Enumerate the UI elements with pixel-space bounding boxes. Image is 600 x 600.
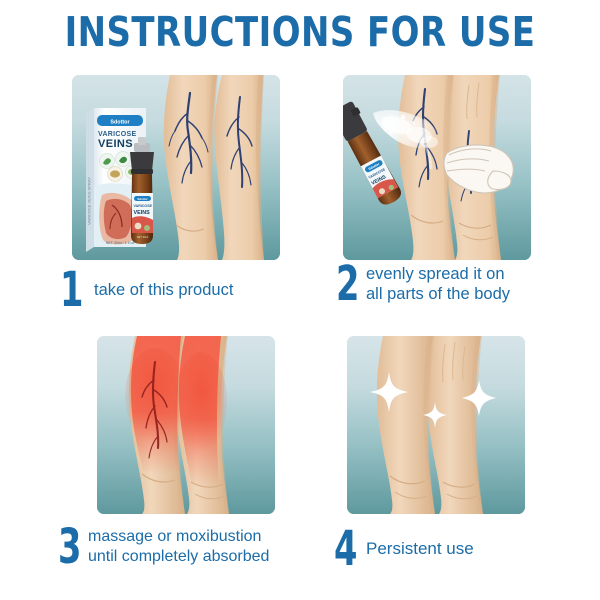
step-2-number: 2 xyxy=(336,262,358,306)
svg-text:NET 30ml: NET 30ml xyxy=(137,235,149,239)
svg-text:VARICOSE VEINS SPRAY: VARICOSE VEINS SPRAY xyxy=(87,177,92,225)
panel-heat-legs xyxy=(97,336,275,514)
svg-text:Sdottor: Sdottor xyxy=(137,197,148,201)
healthy-legs-illustration xyxy=(347,336,525,514)
step-1-label: take of this product xyxy=(94,280,233,300)
spray-apply-illustration: Sdottor VARICOSE VEINS xyxy=(343,75,531,260)
panel-healthy-legs xyxy=(347,336,525,514)
panel-product-box: Sdottor VARICOSE VEINS xyxy=(72,75,280,260)
step-1: 1 take of this product xyxy=(60,268,233,312)
step-1-number: 1 xyxy=(60,268,82,312)
step-2-label: evenly spread it on all parts of the bod… xyxy=(366,264,510,304)
infographic-page: INSTRUCTIONS FOR USE xyxy=(0,0,600,600)
svg-text:VARICOSE: VARICOSE xyxy=(98,131,136,138)
step-4: 4 Persistent use xyxy=(334,527,474,571)
step-4-number: 4 xyxy=(334,527,356,571)
svg-text:Sdottor: Sdottor xyxy=(110,120,130,126)
svg-text:VEINS: VEINS xyxy=(98,138,133,150)
heat-legs-illustration xyxy=(97,336,275,514)
panel-spray-apply: Sdottor VARICOSE VEINS xyxy=(343,75,531,260)
svg-text:VARICOSE: VARICOSE xyxy=(134,204,153,208)
svg-text:VEINS: VEINS xyxy=(134,210,151,216)
spray-bottle: Sdottor VARICOSE VEINS NET 30ml xyxy=(130,137,154,244)
step-4-label: Persistent use xyxy=(366,539,474,559)
step-3: 3 massage or moxibustion until completel… xyxy=(58,525,269,569)
step-2: 2 evenly spread it on all parts of the b… xyxy=(336,262,510,306)
svg-text:NET 30ml / 1 fl.oz: NET 30ml / 1 fl.oz xyxy=(106,241,135,245)
product-box-illustration: Sdottor VARICOSE VEINS xyxy=(72,75,280,260)
step-3-label: massage or moxibustion until completely … xyxy=(88,527,269,567)
page-title: INSTRUCTIONS FOR USE xyxy=(24,8,576,56)
step-3-number: 3 xyxy=(58,525,80,569)
